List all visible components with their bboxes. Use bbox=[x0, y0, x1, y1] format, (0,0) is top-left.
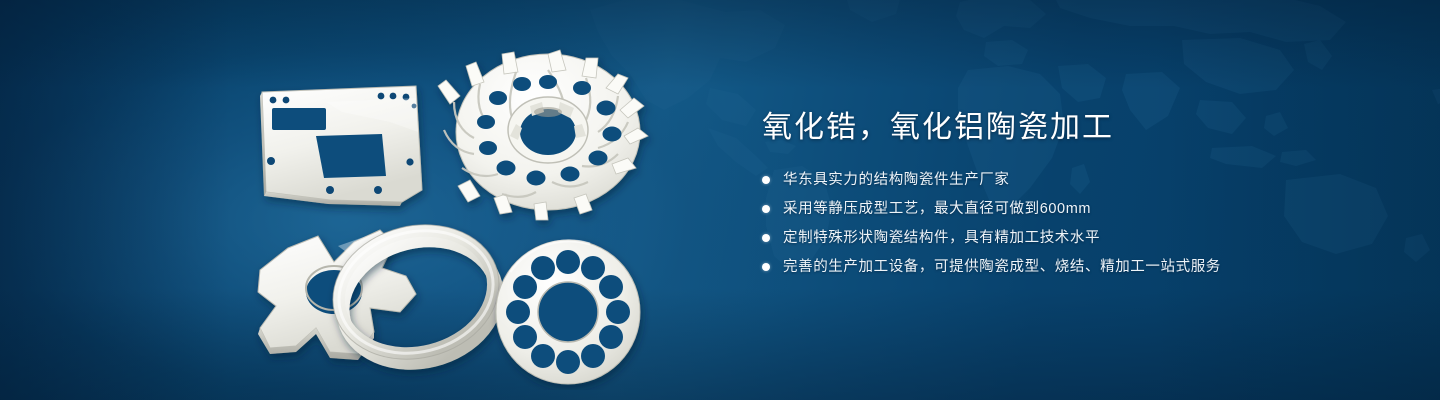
feature-text: 采用等静压成型工艺，最大直径可做到600mm bbox=[783, 199, 1091, 219]
list-item: 定制特殊形状陶瓷结构件，具有精加工技术水平 bbox=[762, 228, 1322, 248]
ceramic-perforated-disc bbox=[496, 240, 640, 384]
bullet-dot-icon bbox=[762, 176, 770, 184]
feature-text: 完善的生产加工设备，可提供陶瓷成型、烧结、精加工一站式服务 bbox=[783, 257, 1221, 277]
list-item: 华东具实力的结构陶瓷件生产厂家 bbox=[762, 170, 1322, 190]
feature-text: 华东具实力的结构陶瓷件生产厂家 bbox=[783, 170, 1010, 190]
bullet-dot-icon bbox=[762, 263, 770, 271]
product-image-cluster bbox=[230, 40, 700, 390]
bullet-dot-icon bbox=[762, 205, 770, 213]
banner-headline: 氧化锆，氧化铝陶瓷加工 bbox=[762, 108, 1322, 148]
ceramic-impeller-rotor bbox=[438, 50, 648, 220]
list-item: 完善的生产加工设备，可提供陶瓷成型、烧结、精加工一站式服务 bbox=[762, 257, 1322, 277]
banner-text-block: 氧化锆，氧化铝陶瓷加工 华东具实力的结构陶瓷件生产厂家 采用等静压成型工艺，最大… bbox=[762, 108, 1322, 286]
ceramic-plate-with-cutouts bbox=[260, 86, 422, 206]
feature-list: 华东具实力的结构陶瓷件生产厂家 采用等静压成型工艺，最大直径可做到600mm 定… bbox=[762, 170, 1322, 277]
feature-text: 定制特殊形状陶瓷结构件，具有精加工技术水平 bbox=[783, 228, 1100, 248]
promo-banner: 氧化锆，氧化铝陶瓷加工 华东具实力的结构陶瓷件生产厂家 采用等静压成型工艺，最大… bbox=[0, 0, 1440, 400]
bullet-dot-icon bbox=[762, 234, 770, 242]
list-item: 采用等静压成型工艺，最大直径可做到600mm bbox=[762, 199, 1322, 219]
